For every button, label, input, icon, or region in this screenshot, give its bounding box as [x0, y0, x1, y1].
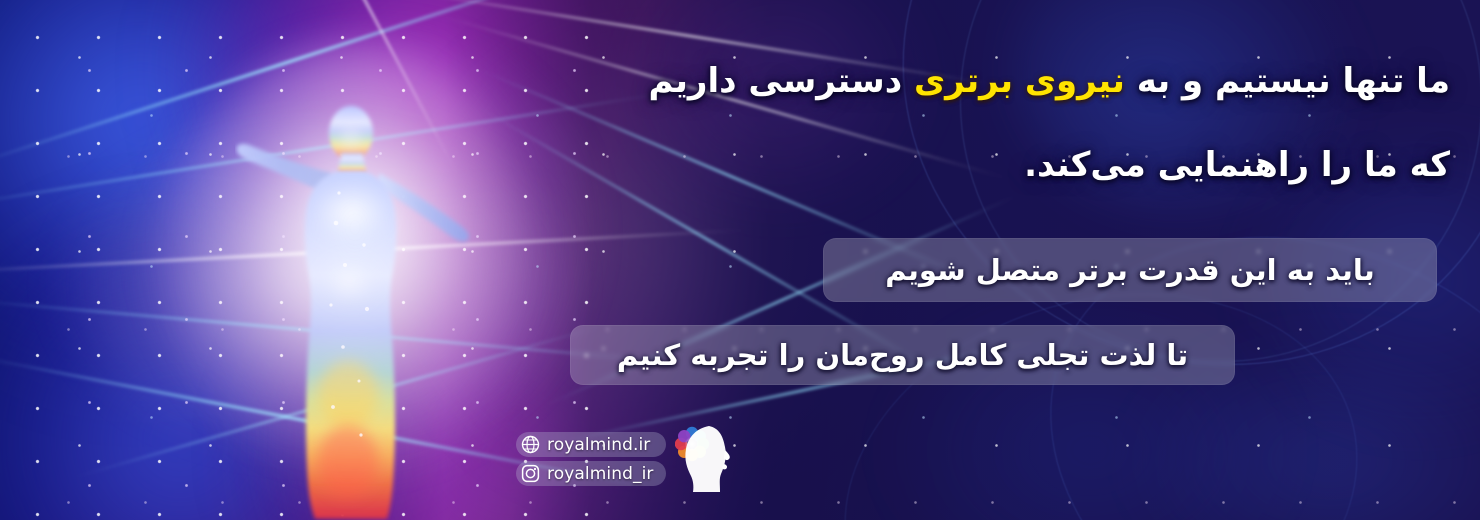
- head-profile-logo-icon: [675, 424, 739, 494]
- highlight-pill-1: باید به این قدرت برتر متصل شویم: [823, 238, 1437, 302]
- social-badges: royalmind.ir royalmind_ir: [516, 432, 666, 486]
- footer-branding: royalmind.ir royalmind_ir: [516, 424, 739, 494]
- figure-inner-glow: [165, 45, 545, 520]
- headline-line1-part1: ما تنها نیستیم و به: [1125, 61, 1450, 101]
- headline-line-2: که ما را راهنمایی می‌کند.: [1024, 146, 1450, 185]
- highlight-pill-2: تا لذت تجلی کامل روح‌مان را تجربه کنیم: [570, 325, 1235, 385]
- website-badge[interactable]: royalmind.ir: [516, 432, 666, 457]
- brand-logo: [675, 424, 739, 494]
- instagram-badge-label: royalmind_ir: [547, 464, 653, 484]
- globe-icon: [521, 435, 540, 454]
- energy-body-figure: [235, 95, 475, 520]
- headline-line1-part2: دسترسی داریم: [648, 61, 914, 101]
- highlight-pill-1-label: باید به این قدرت برتر متصل شویم: [885, 253, 1374, 287]
- instagram-icon: [521, 464, 540, 483]
- instagram-badge[interactable]: royalmind_ir: [516, 461, 666, 486]
- website-badge-label: royalmind.ir: [547, 435, 650, 455]
- headline-accent-phrase: نیروی برتری: [914, 61, 1125, 101]
- headline-line-1: ما تنها نیستیم و به نیروی برتری دسترسی د…: [648, 62, 1450, 101]
- promo-banner: ما تنها نیستیم و به نیروی برتری دسترسی د…: [0, 0, 1480, 520]
- highlight-pill-2-label: تا لذت تجلی کامل روح‌مان را تجربه کنیم: [617, 338, 1188, 372]
